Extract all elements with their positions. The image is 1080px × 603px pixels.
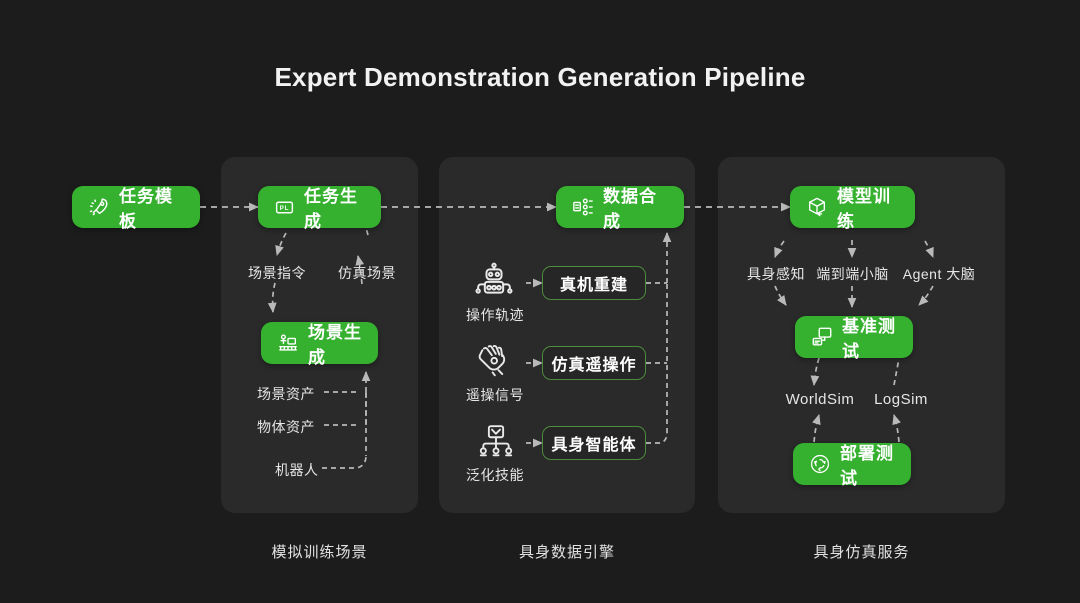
page-title: Expert Demonstration Generation Pipeline bbox=[0, 62, 1080, 93]
scene-generation-icon bbox=[277, 332, 299, 354]
caption-embodied-sim-service: 具身仿真服务 bbox=[718, 541, 1005, 562]
node-simulated-teleoperation[interactable]: 仿真遥操作 bbox=[542, 346, 646, 380]
caption-sim-training-scene: 模拟训练场景 bbox=[221, 541, 418, 562]
label-agent-brain: Agent 大脑 bbox=[893, 264, 985, 284]
label-embodied-perception: 具身感知 bbox=[737, 264, 815, 284]
network-icon bbox=[476, 423, 516, 461]
label-scene-instruction: 场景指令 bbox=[238, 263, 316, 283]
glove-icon bbox=[474, 343, 516, 381]
node-embodied-agent[interactable]: 具身智能体 bbox=[542, 426, 646, 460]
node-deployment-test[interactable]: 部署测试 bbox=[793, 443, 911, 485]
node-label: 部署测试 bbox=[840, 439, 895, 489]
node-task-generation[interactable]: PL 任务生成 bbox=[258, 186, 381, 228]
label-robot: 机器人 bbox=[275, 460, 319, 480]
node-data-synthesis[interactable]: 数据合成 bbox=[556, 186, 684, 228]
label-logsim: LogSim bbox=[866, 391, 936, 408]
node-label: 场景生成 bbox=[308, 318, 362, 368]
label-object-assets: 物体资产 bbox=[257, 417, 315, 437]
node-label: 模型训练 bbox=[837, 182, 899, 232]
diagram-canvas: Expert Demonstration Generation Pipeline bbox=[0, 0, 1080, 603]
node-benchmark-test[interactable]: 基准测试 bbox=[795, 316, 913, 358]
node-label: 任务生成 bbox=[304, 182, 365, 232]
cube-training-icon bbox=[806, 196, 828, 218]
node-label: 基准测试 bbox=[842, 312, 897, 362]
rocket-icon bbox=[88, 196, 110, 218]
caption-embodied-data-engine: 具身数据引擎 bbox=[439, 541, 695, 562]
label-worldsim: WorldSim bbox=[778, 391, 862, 408]
node-real-machine-reconstruction[interactable]: 真机重建 bbox=[542, 266, 646, 300]
robot-icon bbox=[472, 261, 516, 301]
svg-text:PL: PL bbox=[280, 205, 290, 212]
node-label: 数据合成 bbox=[603, 182, 668, 232]
label-end-to-end-cerebellum: 端到端小脑 bbox=[805, 264, 900, 284]
deploy-cycle-icon bbox=[809, 453, 831, 475]
label-operation-trajectory: 操作轨迹 bbox=[459, 305, 531, 325]
data-synthesis-icon bbox=[572, 196, 594, 218]
label-generalization-skill: 泛化技能 bbox=[459, 465, 531, 485]
label-scene-assets: 场景资产 bbox=[257, 384, 315, 404]
label-teleop-signal: 遥操信号 bbox=[459, 385, 531, 405]
node-label: 任务模板 bbox=[119, 182, 184, 232]
node-task-template[interactable]: 任务模板 bbox=[72, 186, 200, 228]
node-model-training[interactable]: 模型训练 bbox=[790, 186, 915, 228]
node-scene-generation[interactable]: 场景生成 bbox=[261, 322, 378, 364]
pl-badge-icon: PL bbox=[274, 197, 295, 218]
label-simulation-scene: 仿真场景 bbox=[328, 263, 406, 283]
benchmark-monitor-icon bbox=[811, 326, 833, 348]
